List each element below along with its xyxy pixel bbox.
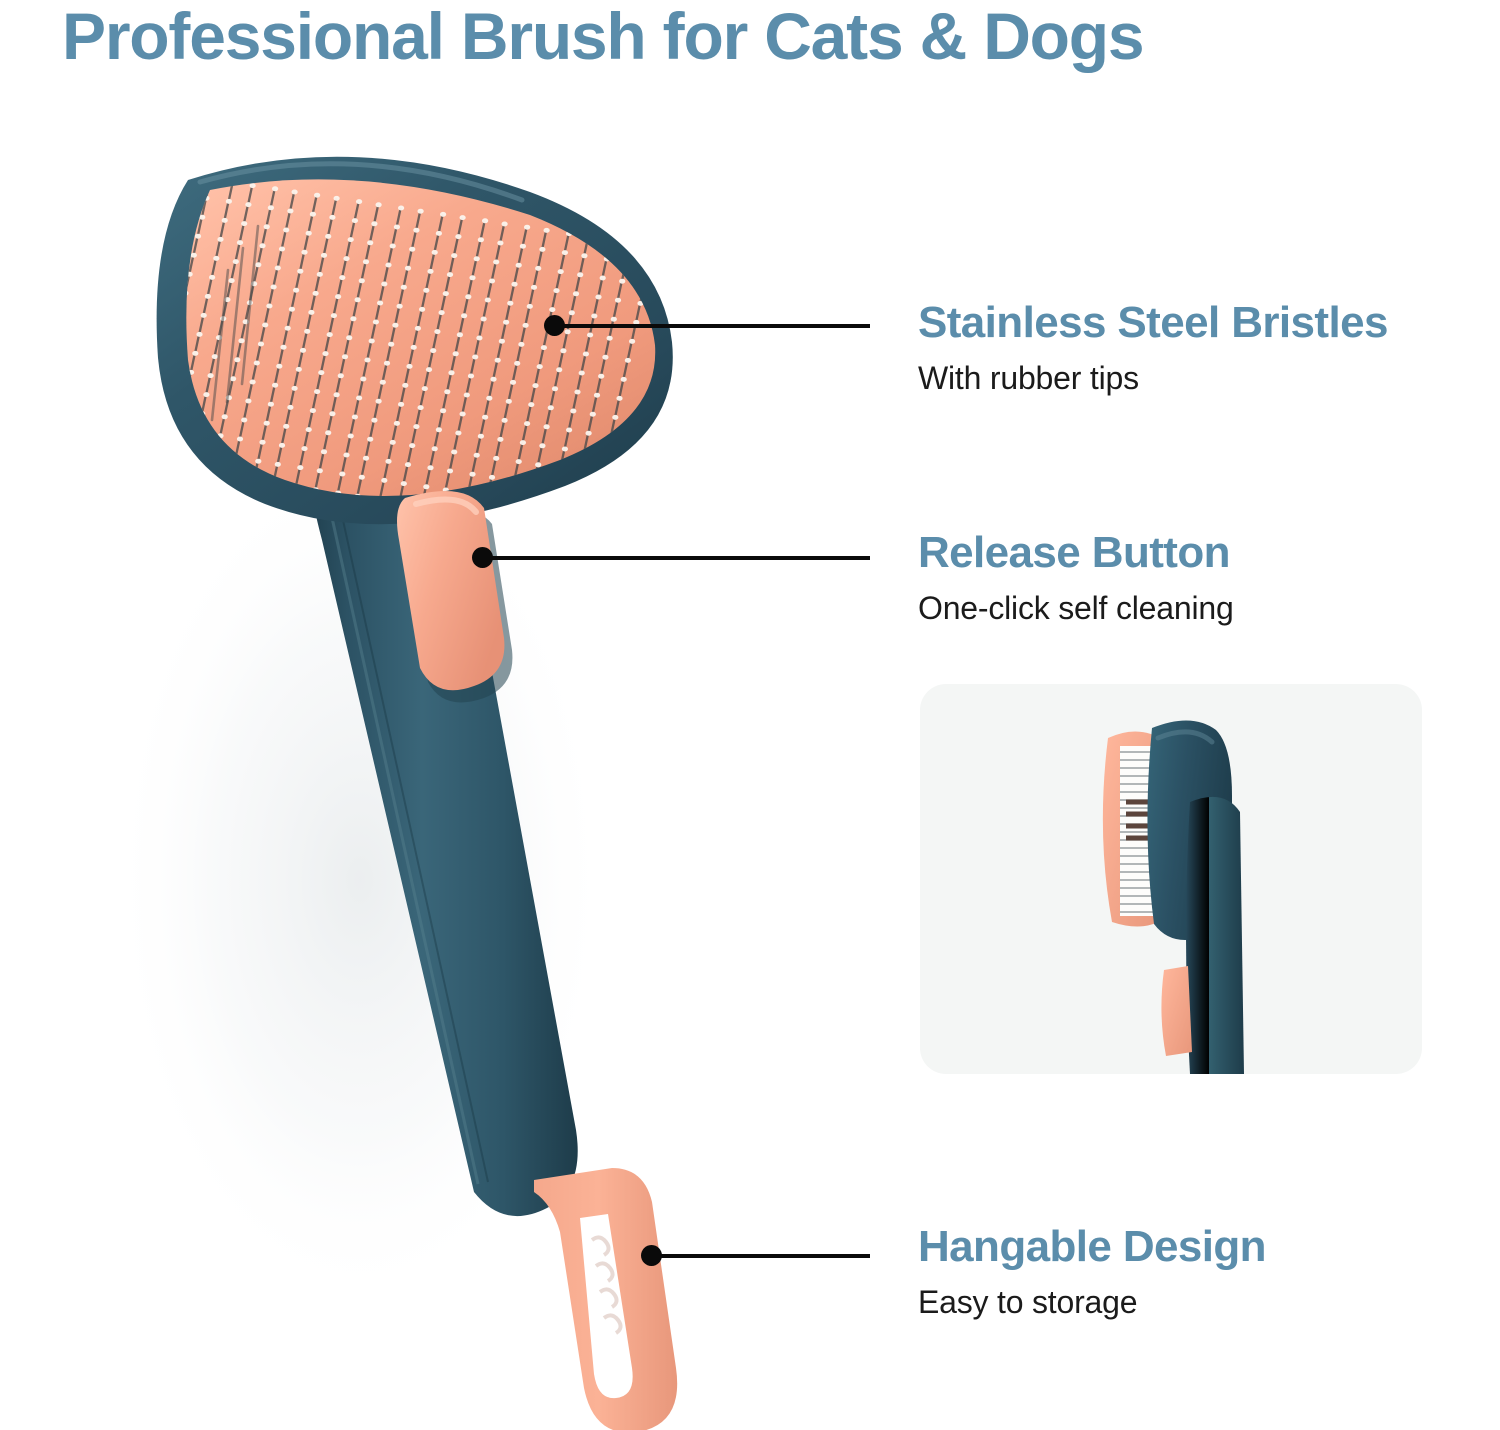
hanging-loop [534, 1168, 677, 1430]
callout-subtext: With rubber tips [918, 361, 1388, 396]
callout-heading: Release Button [918, 530, 1234, 576]
callout-release-button: Release Button One-click self cleaning [918, 530, 1234, 626]
product-image-side-view [920, 684, 1422, 1074]
callout-subtext: One-click self cleaning [918, 591, 1234, 626]
product-image-main [60, 120, 880, 1430]
callout-heading: Stainless Steel Bristles [918, 300, 1388, 346]
inset-release-button[interactable] [1161, 966, 1192, 1056]
callout-hangable-design: Hangable Design Easy to storage [918, 1224, 1266, 1320]
leader-line-hangable [657, 1254, 870, 1258]
callout-heading: Hangable Design [918, 1224, 1266, 1270]
callout-stainless-steel-bristles: Stainless Steel Bristles With rubber tip… [918, 300, 1388, 396]
inset-photo-panel [920, 684, 1422, 1074]
leader-line-bristles [558, 324, 870, 328]
callout-subtext: Easy to storage [918, 1285, 1266, 1320]
page-title: Professional Brush for Cats & Dogs [62, 2, 1482, 72]
leader-line-release-button [488, 556, 870, 560]
inset-handle [1186, 797, 1244, 1074]
